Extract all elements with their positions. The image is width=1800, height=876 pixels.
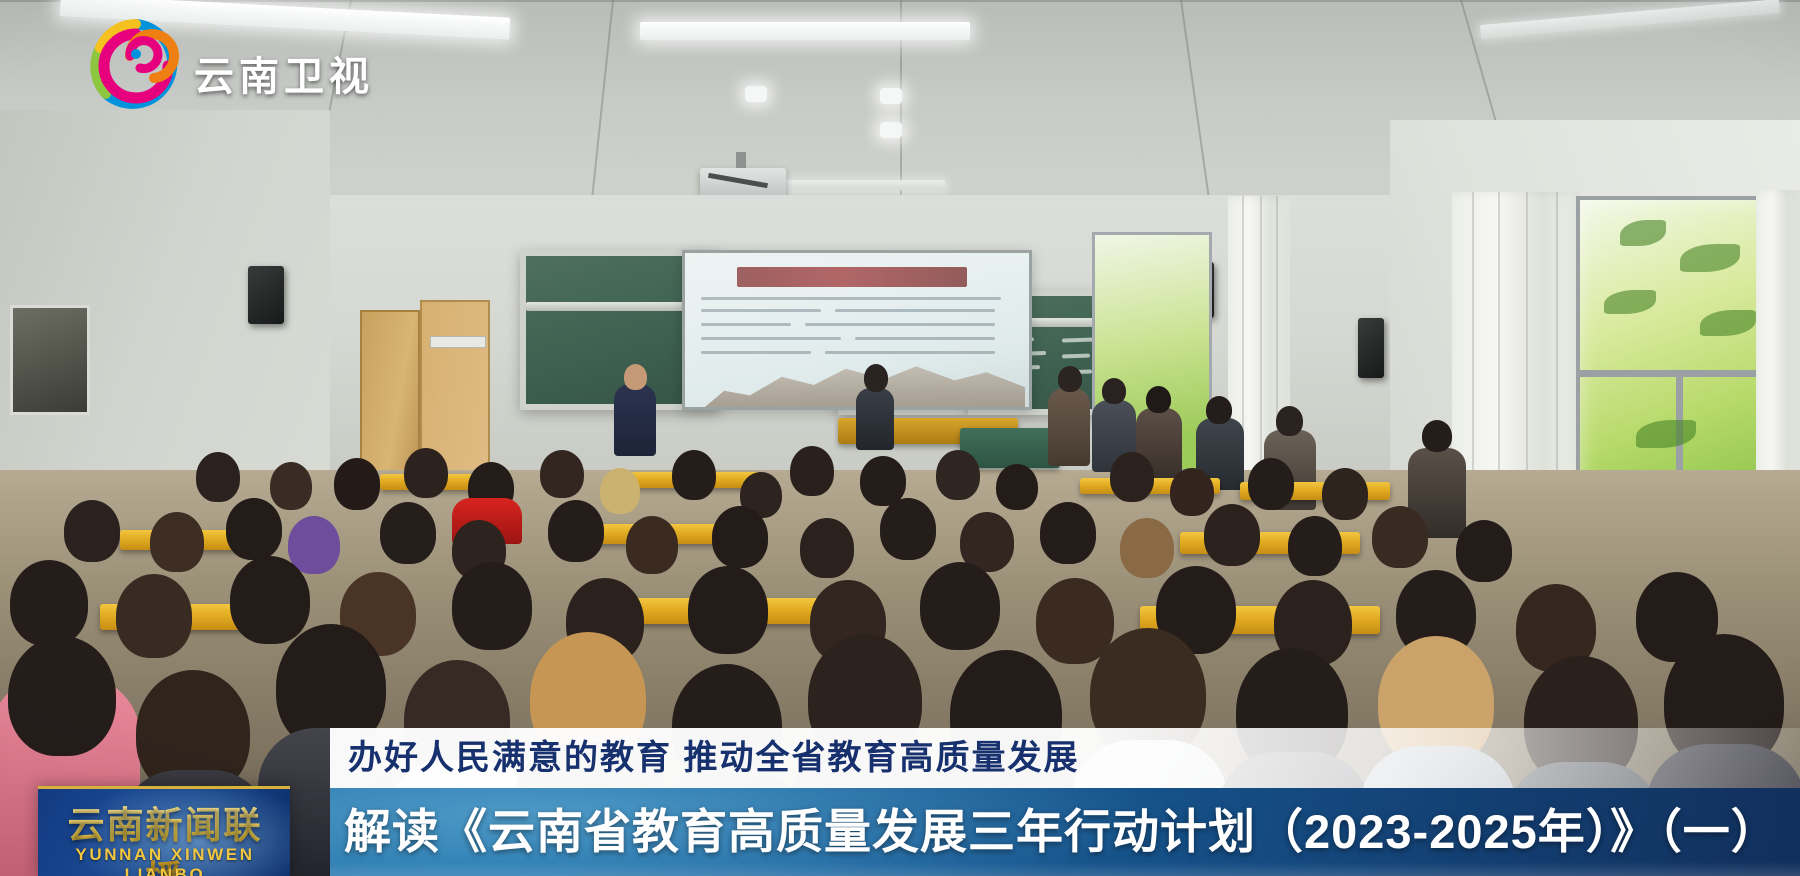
student-head — [712, 506, 768, 568]
student-head — [600, 468, 640, 514]
student-body-foreground — [388, 760, 534, 876]
student-head — [800, 518, 854, 578]
left-wall-window — [10, 305, 90, 415]
speaker-at-lectern-head — [864, 364, 888, 392]
wall-speaker-far-right — [1358, 318, 1384, 378]
student-head — [196, 452, 240, 502]
student-head — [548, 500, 604, 562]
student-head — [150, 512, 204, 572]
student-body-foreground — [258, 728, 408, 876]
student-head — [880, 498, 936, 560]
presenter-head — [624, 364, 647, 390]
student-head — [380, 502, 436, 564]
student-head — [920, 562, 1000, 650]
channel-name-label: 云南卫视 — [194, 44, 374, 102]
student-head — [672, 450, 716, 500]
student-head — [334, 458, 380, 510]
slide-title-bar — [737, 267, 967, 287]
student-head — [64, 500, 120, 562]
student-head — [404, 448, 448, 498]
projection-screen — [682, 250, 1032, 410]
observer-1-head — [1058, 366, 1082, 392]
student-head — [230, 556, 310, 644]
student-body-foreground — [120, 770, 270, 876]
student-head — [1372, 506, 1428, 568]
student-body-foreground — [1646, 744, 1800, 876]
student-head — [288, 516, 340, 574]
speaker-at-lectern-body — [856, 388, 894, 450]
observer-1-body — [1048, 388, 1090, 466]
student-body-foreground — [1506, 762, 1660, 876]
student-head — [226, 498, 282, 560]
student-head — [790, 446, 834, 496]
lecture-hall-photo — [0, 0, 1800, 876]
student-head — [116, 574, 192, 658]
student-head — [452, 562, 532, 650]
broadcast-frame: 云南卫视 办好人民满意的教育 推动全省教育高质量发展 解读《云南省教育高质量发展… — [0, 0, 1800, 876]
student-head-foreground — [8, 636, 116, 756]
student-head — [936, 450, 980, 500]
student-head — [10, 560, 88, 646]
student-head — [540, 450, 584, 498]
student-head — [1040, 502, 1096, 564]
student-body-foreground — [1218, 752, 1370, 876]
student-head — [1248, 458, 1294, 510]
channel-logo: 云南卫视 — [88, 14, 388, 114]
student-body-foreground — [1360, 746, 1516, 876]
observer-3-head — [1146, 386, 1171, 413]
wall-speaker-left — [248, 266, 284, 324]
student-head — [1110, 452, 1154, 502]
student-head — [1456, 520, 1512, 582]
student-head — [270, 462, 312, 510]
student-head — [688, 566, 768, 654]
student-head — [1170, 468, 1214, 516]
observer-5-head — [1276, 406, 1303, 436]
presenter-suit — [614, 384, 656, 456]
wall-switch-panel — [430, 336, 486, 348]
student-head — [1204, 504, 1260, 566]
student-body-foreground — [1072, 740, 1228, 876]
student-head — [1120, 518, 1174, 578]
student-body-foreground — [932, 754, 1084, 876]
student-body-foreground — [514, 742, 670, 876]
student-head — [626, 516, 678, 574]
observer-4-head — [1206, 396, 1232, 424]
student-body-foreground — [656, 768, 806, 876]
observer-2-head — [1102, 378, 1126, 404]
student-head — [996, 464, 1038, 510]
student-head — [1288, 516, 1342, 576]
yunnan-tv-spiral-logo — [88, 16, 184, 112]
student-body-foreground — [790, 742, 944, 876]
observer-6-head — [1422, 420, 1452, 452]
student-head — [1322, 468, 1368, 520]
